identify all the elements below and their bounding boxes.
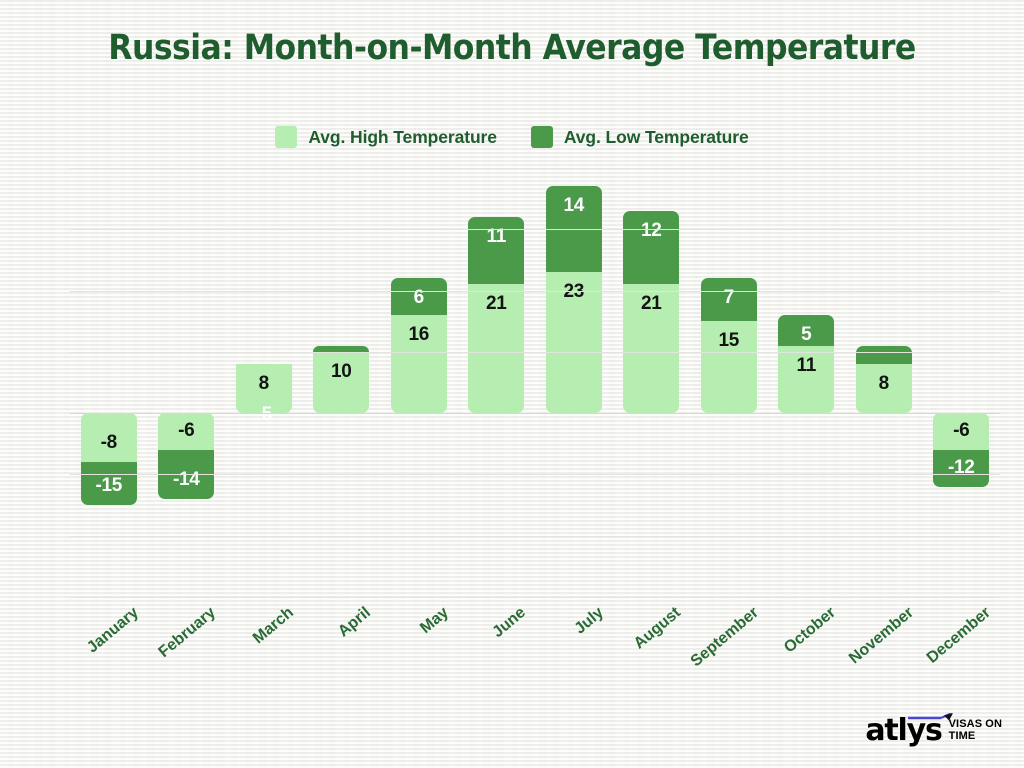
- bar-value-high: 21: [486, 294, 507, 313]
- bar-segment-low[interactable]: 6: [391, 278, 447, 315]
- bar-layer: -8-15-6-148-5101662111231421121571158-6-…: [70, 168, 1000, 597]
- x-axis-label-april: April: [335, 604, 374, 641]
- bar-value-low: 5: [801, 325, 811, 344]
- bar-group-february[interactable]: -6-14: [158, 168, 214, 597]
- chart-page: Russia: Month-on-Month Average Temperatu…: [0, 0, 1024, 768]
- x-axis-label-may: May: [417, 604, 452, 638]
- bar-value-high: -6: [953, 421, 969, 440]
- legend-item-1[interactable]: Avg. High Temperature: [275, 126, 497, 148]
- bar-value-low: 12: [641, 221, 662, 240]
- bar-value-high: 23: [563, 282, 584, 301]
- bar-segment-low[interactable]: -12: [933, 450, 989, 487]
- legend-label: Avg. Low Temperature: [564, 127, 749, 148]
- atlys-logo: atlys VISAS ON TIME: [865, 716, 1002, 746]
- bar-segment-low[interactable]: [856, 346, 912, 364]
- bar-value-high: 16: [408, 325, 429, 344]
- bar-segment-low[interactable]: 7: [701, 278, 757, 321]
- bar-value-low: -15: [95, 476, 122, 495]
- x-axis-label-october: October: [781, 604, 840, 657]
- bar-segment-high[interactable]: 23: [546, 272, 602, 413]
- bar-value-high: -8: [101, 433, 117, 452]
- bar-value-low: -14: [173, 470, 200, 489]
- bar-group-october[interactable]: 115: [778, 168, 834, 597]
- bar-value-high: 15: [718, 331, 739, 350]
- x-axis-label-june: June: [490, 604, 530, 642]
- gridline--10: [70, 474, 1000, 475]
- bar-segment-high[interactable]: 8: [856, 364, 912, 413]
- bar-group-january[interactable]: -8-15: [81, 168, 137, 597]
- bar-value-high: 11: [797, 356, 817, 375]
- legend-swatch-icon: [531, 126, 553, 148]
- bar-segment-high[interactable]: 11: [778, 346, 834, 413]
- x-axis-label-july: July: [571, 604, 607, 638]
- gridline-0: [70, 413, 1000, 414]
- bar-segment-high[interactable]: 15: [701, 321, 757, 413]
- bar-segment-high[interactable]: 21: [468, 284, 524, 413]
- x-axis-label-august: August: [631, 604, 685, 653]
- bar-group-november[interactable]: 8: [856, 168, 912, 597]
- legend-swatch-icon: [275, 126, 297, 148]
- bar-segment-high[interactable]: -6: [158, 413, 214, 450]
- bar-group-july[interactable]: 2314: [546, 168, 602, 597]
- x-axis-label-february: February: [156, 604, 220, 662]
- bar-value-high: 8: [259, 374, 269, 393]
- bar-group-september[interactable]: 157: [701, 168, 757, 597]
- bar-group-august[interactable]: 2112: [623, 168, 679, 597]
- x-axis-label-september: September: [687, 604, 762, 671]
- gridline--30: [70, 597, 1000, 598]
- bar-value-high: 21: [641, 294, 662, 313]
- gridline--20: [70, 536, 1000, 537]
- x-axis-label-december: December: [924, 604, 995, 668]
- gridline-10: [70, 352, 1000, 353]
- bar-segment-high[interactable]: -6: [933, 413, 989, 450]
- bar-group-may[interactable]: 166: [391, 168, 447, 597]
- bar-segment-low[interactable]: 5: [778, 315, 834, 346]
- gridline-20: [70, 291, 1000, 292]
- logo-tagline-line2: TIME: [949, 731, 1002, 743]
- bar-value-high: 8: [879, 374, 889, 393]
- bar-segment-low[interactable]: 12: [623, 211, 679, 285]
- bar-segment-high[interactable]: 16: [391, 315, 447, 413]
- bar-segment-high[interactable]: 21: [623, 284, 679, 413]
- bar-group-april[interactable]: 10: [313, 168, 369, 597]
- x-axis-labels: JanuaryFebruaryMarchAprilMayJuneJulyAugu…: [70, 600, 1000, 690]
- gridline-40: [70, 168, 1000, 169]
- x-axis-label-march: March: [250, 604, 298, 648]
- gridline-30: [70, 229, 1000, 230]
- logo-tagline: VISAS ON TIME: [949, 719, 1002, 746]
- x-axis-label-november: November: [846, 604, 918, 668]
- bar-segment-high[interactable]: 10: [313, 352, 369, 413]
- logo-mark: atlys: [865, 716, 941, 746]
- bar-group-march[interactable]: 8-5: [236, 168, 292, 597]
- legend-item-2[interactable]: Avg. Low Temperature: [531, 126, 749, 148]
- x-axis-label-january: January: [84, 604, 143, 657]
- bar-value-low: 14: [563, 196, 584, 215]
- airplane-swoosh-icon: [908, 713, 954, 727]
- plot-area: -8-15-6-148-5101662111231421121571158-6-…: [70, 168, 1000, 597]
- bar-segment-low[interactable]: 11: [468, 217, 524, 284]
- bar-value-low: -5: [256, 405, 272, 424]
- bar-group-june[interactable]: 2111: [468, 168, 524, 597]
- legend-label: Avg. High Temperature: [308, 127, 497, 148]
- bar-value-high: -6: [178, 421, 194, 440]
- bar-segment-low[interactable]: -15: [81, 462, 137, 505]
- bar-group-december[interactable]: -6-12: [933, 168, 989, 597]
- chart-legend: Avg. High TemperatureAvg. Low Temperatur…: [0, 126, 1024, 148]
- bar-value-high: 10: [331, 362, 352, 381]
- page-title: Russia: Month-on-Month Average Temperatu…: [51, 28, 973, 68]
- bar-segment-high[interactable]: -8: [81, 413, 137, 462]
